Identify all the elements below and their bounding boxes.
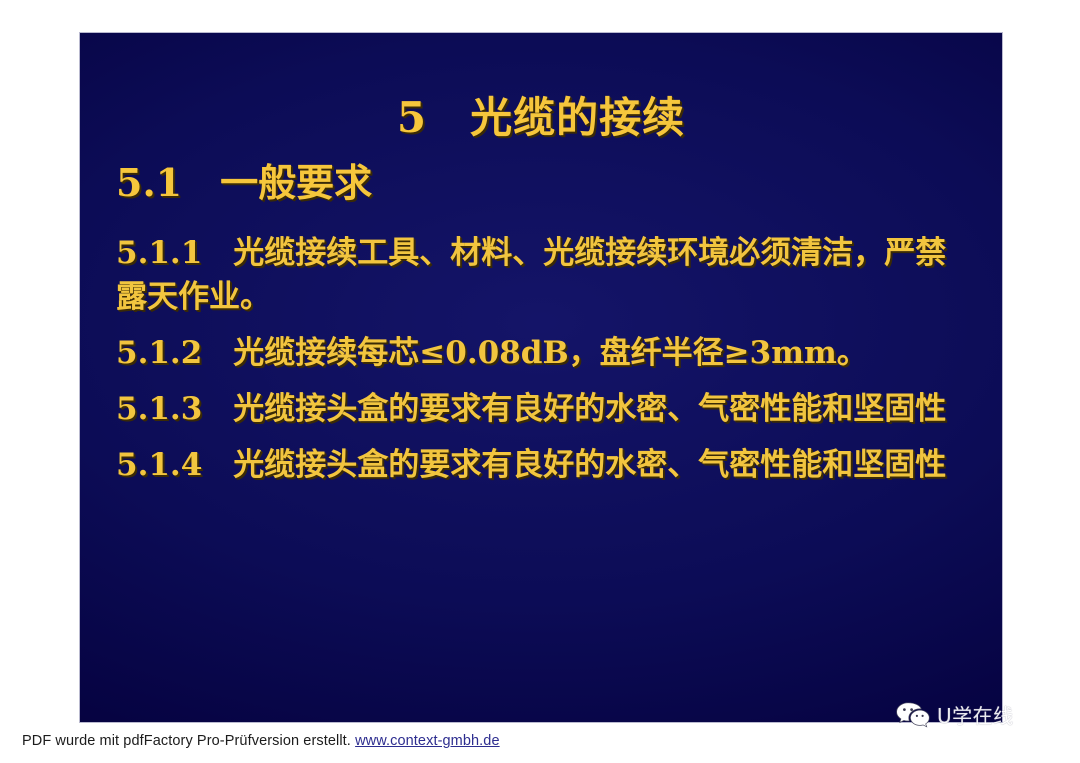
body-content-list: 5.1.1 光缆接续工具、材料、光缆接续环境必须清洁，严禁露天作业。 5.1.2… xyxy=(116,231,976,499)
list-item: 5.1.3 光缆接头盒的要求有良好的水密、气密性能和坚固性 xyxy=(116,387,976,431)
section-subtitle: 5.1 一般要求 xyxy=(116,161,372,205)
slide-canvas: 5 光缆的接续 5.1 一般要求 5.1.1 光缆接续工具、材料、光缆接续环境必… xyxy=(80,33,1002,722)
list-item: 5.1.4 光缆接头盒的要求有良好的水密、气密性能和坚固性 xyxy=(116,443,976,487)
footer-text: PDF wurde mit pdfFactory Pro-Prüfversion… xyxy=(22,733,351,749)
footer-link[interactable]: www.context-gmbh.de xyxy=(355,733,500,749)
page-title: 5 光缆的接续 xyxy=(80,95,1002,141)
list-item: 5.1.2 光缆接续每芯≤0.08dB，盘纤半径≥3mm。 xyxy=(116,331,976,375)
pdf-footer-notice: PDF wurde mit pdfFactory Pro-Prüfversion… xyxy=(22,733,500,749)
list-item: 5.1.1 光缆接续工具、材料、光缆接续环境必须清洁，严禁露天作业。 xyxy=(116,231,976,319)
